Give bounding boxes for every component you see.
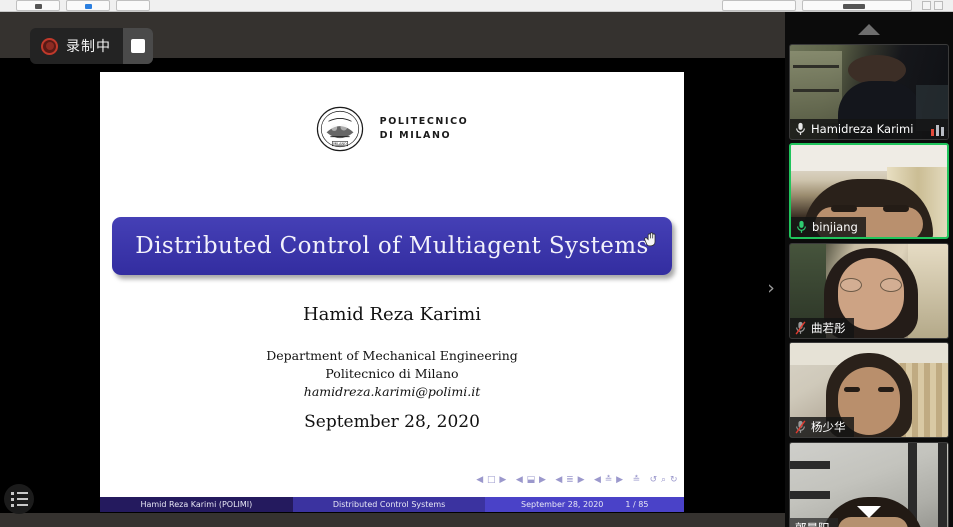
zoom-meeting-window: 录制中 MILANO	[0, 0, 953, 527]
logo-line-2: DI MILANO	[380, 129, 469, 143]
participant-tile[interactable]: Hamidreza Karimi	[789, 44, 949, 140]
participant-name: 杨少华	[811, 419, 846, 435]
list-menu-icon[interactable]	[4, 484, 34, 514]
affiliation-line-1: Department of Mechanical Engineering	[100, 347, 684, 365]
recording-label: 录制中	[66, 36, 111, 56]
logo-line-1: POLITECNICO	[380, 115, 469, 129]
nav-symbol-section[interactable]: ◀ ≣ ▶	[555, 475, 585, 485]
slide-affiliation: Department of Mechanical Engineering Pol…	[100, 347, 684, 401]
beamer-footer: Hamid Reza Karimi (POLIMI) Distributed C…	[100, 497, 684, 512]
politecnico-crest-icon: MILANO	[316, 105, 364, 153]
mic-on-icon	[796, 220, 807, 234]
participant-name-bar: 曲若彤	[790, 318, 854, 338]
slide-title: Distributed Control of Multiagent System…	[135, 233, 648, 259]
chrome-button-1-glyph	[35, 4, 42, 9]
stop-square-icon	[131, 39, 145, 53]
participant-tile[interactable]: 曲若彤	[789, 243, 949, 339]
beamer-footer-title: Distributed Control Systems	[293, 497, 486, 512]
svg-text:MILANO: MILANO	[333, 142, 347, 146]
nav-symbol-subsection[interactable]: ◀ ⬓ ▶	[516, 475, 547, 485]
nav-symbol-frame[interactable]: ◀ □ ▶	[476, 475, 507, 485]
hand-cursor-icon	[644, 231, 658, 247]
browser-chrome-strip	[0, 0, 953, 12]
window-control-2[interactable]	[934, 1, 943, 10]
chrome-field-b[interactable]	[802, 0, 912, 11]
university-logo-text: POLITECNICO DI MILANO	[380, 115, 469, 143]
shared-screen-stage: 录制中 MILANO	[0, 12, 785, 527]
participant-tile[interactable]: binjiang	[789, 143, 949, 239]
chrome-button-3[interactable]	[116, 0, 150, 11]
beamer-navigation-symbols[interactable]: ◀ □ ▶ ◀ ⬓ ▶ ◀ ≣ ▶ ◀ ≛ ▶ ≛ ↺ ⌕ ↻	[476, 475, 678, 485]
beamer-footer-author: Hamid Reza Karimi (POLIMI)	[100, 497, 293, 512]
participant-name: 曲若彤	[811, 320, 846, 336]
chrome-button-2-glyph	[85, 4, 92, 9]
chevron-right-icon[interactable]: ›	[762, 277, 780, 299]
slide-title-banner: Distributed Control of Multiagent System…	[112, 217, 672, 275]
participant-name-bar: binjiang	[791, 217, 866, 237]
mic-muted-icon	[795, 321, 806, 335]
nav-symbol-back[interactable]: ≛	[633, 475, 641, 485]
slide-author: Hamid Reza Karimi	[100, 304, 684, 325]
mic-muted-icon	[795, 420, 806, 434]
chrome-button-1[interactable]	[16, 0, 60, 11]
record-circle-icon	[41, 38, 58, 55]
beamer-footer-right: September 28, 2020 1 / 85	[485, 497, 684, 512]
mic-on-icon	[795, 122, 806, 136]
nav-symbol-search[interactable]: ↺ ⌕ ↻	[650, 475, 678, 485]
affiliation-line-2: Politecnico di Milano	[100, 365, 684, 383]
triangle-up-icon	[858, 24, 880, 35]
chrome-field-a[interactable]	[722, 0, 796, 11]
window-control-1[interactable]	[922, 1, 931, 10]
beamer-footer-date: September 28, 2020	[521, 500, 603, 509]
slide-date: September 28, 2020	[100, 412, 684, 432]
author-email: hamidreza.karimi@polimi.it	[100, 383, 684, 401]
participant-filmstrip: Hamidreza Karimi bin	[785, 12, 953, 527]
participant-name: Hamidreza Karimi	[811, 122, 913, 136]
filmstrip-scroll-down-button[interactable]	[785, 501, 953, 523]
triangle-down-icon	[857, 506, 881, 518]
participant-tile[interactable]: 杨少华	[789, 342, 949, 438]
university-logo: MILANO POLITECNICO DI MILANO	[100, 105, 684, 153]
chrome-button-2[interactable]	[66, 0, 110, 11]
participant-name: binjiang	[812, 220, 858, 234]
recording-indicator[interactable]: 录制中	[30, 28, 153, 64]
participant-name-bar: Hamidreza Karimi	[790, 119, 949, 139]
nav-symbol-doc[interactable]: ◀ ≛ ▶	[594, 475, 624, 485]
beamer-footer-page: 1 / 85	[625, 500, 648, 509]
audio-level-meter	[931, 123, 944, 136]
chrome-field-b-glyph	[843, 4, 865, 9]
participant-name-bar: 杨少华	[790, 417, 854, 437]
filmstrip-scroll-up-button[interactable]	[785, 18, 953, 40]
stop-recording-button[interactable]	[123, 28, 153, 64]
recording-status: 录制中	[30, 28, 123, 64]
presentation-slide[interactable]: MILANO POLITECNICO DI MILANO Distributed…	[100, 72, 684, 512]
